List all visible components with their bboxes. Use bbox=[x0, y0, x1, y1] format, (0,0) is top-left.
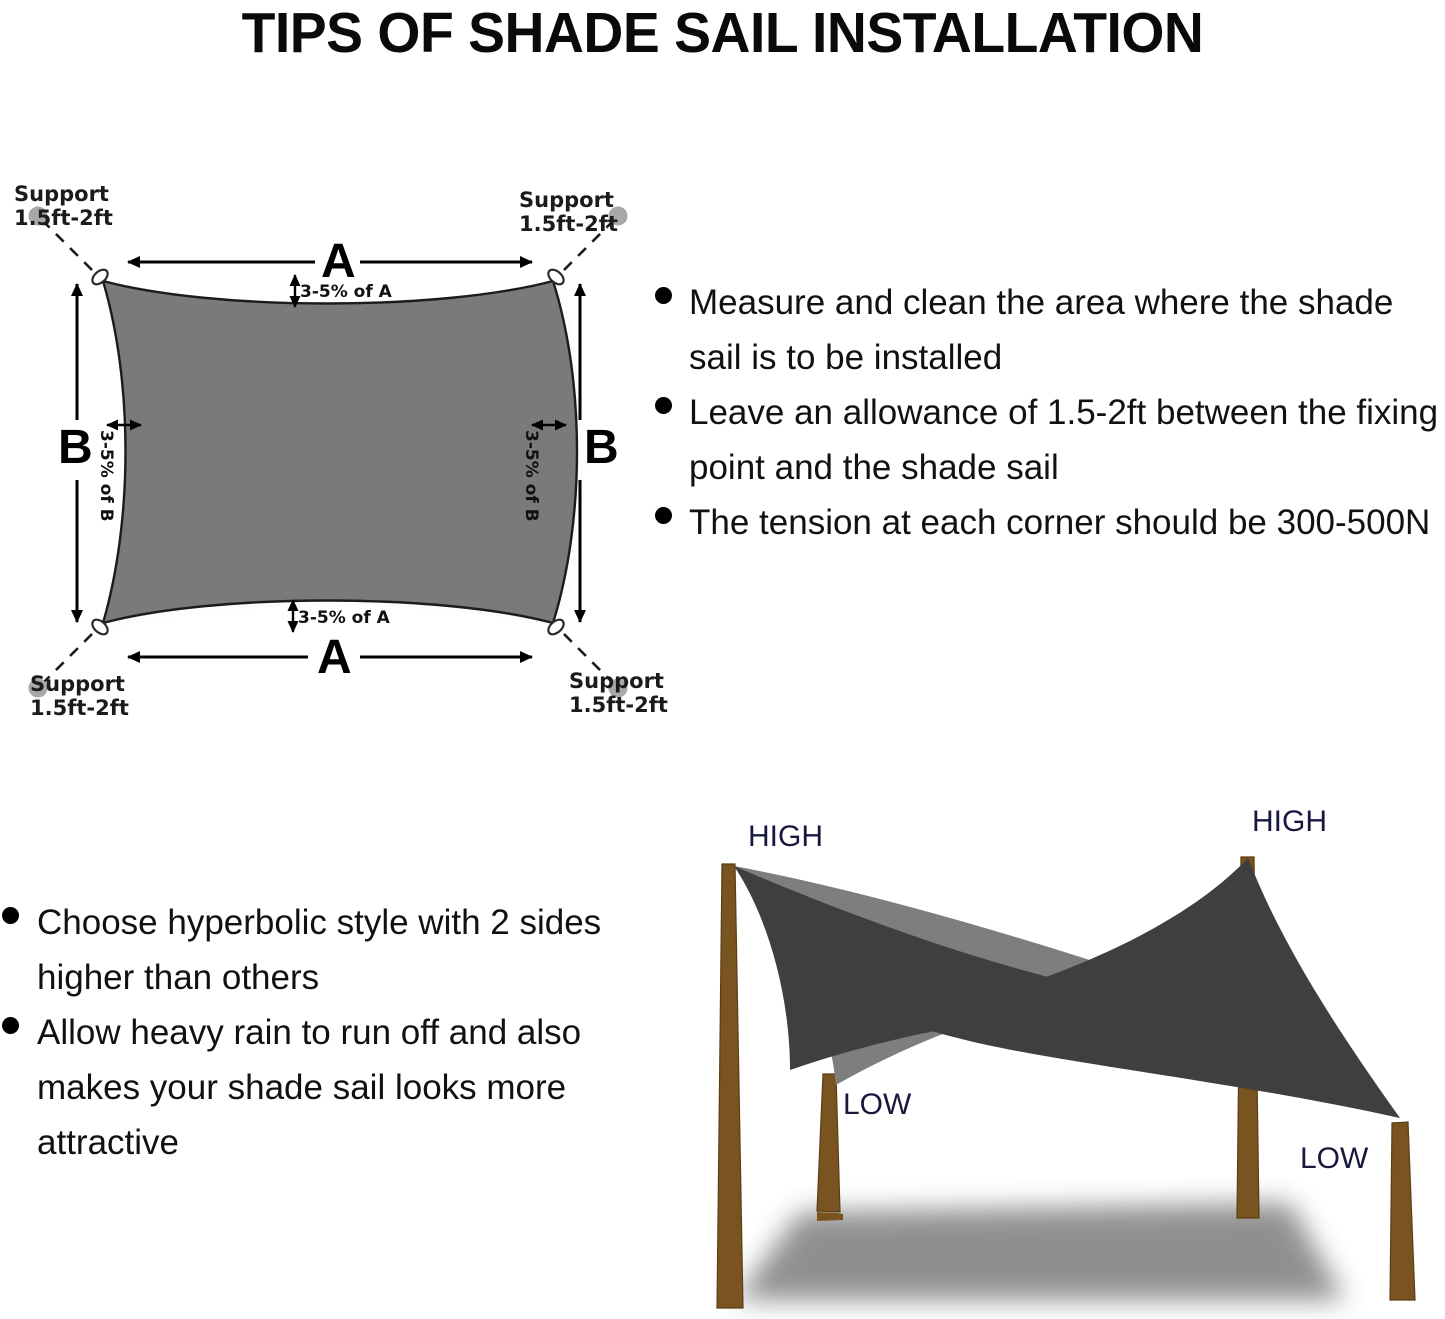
support-label-line1: Support bbox=[14, 182, 113, 206]
list-item: Leave an allowance of 1.5-2ft between th… bbox=[655, 385, 1445, 495]
installation-tips-list: Measure and clean the area where the sha… bbox=[655, 275, 1445, 550]
support-posts bbox=[717, 857, 1415, 1308]
post-label-low-right: LOW bbox=[1300, 1143, 1368, 1175]
support-label-line2: 1.5ft-2ft bbox=[14, 206, 113, 230]
curve-note-bottom: 3-5% of A bbox=[298, 608, 390, 628]
page-title: TIPS OF SHADE SAIL INSTALLATION bbox=[22, 2, 1424, 64]
d-ring-icon bbox=[90, 267, 111, 287]
list-item-text: The tension at each corner should be 300… bbox=[689, 495, 1430, 550]
list-item: The tension at each corner should be 300… bbox=[655, 495, 1445, 550]
post-4 bbox=[1390, 1122, 1415, 1300]
list-item-text: Leave an allowance of 1.5-2ft between th… bbox=[689, 385, 1445, 495]
post-1 bbox=[717, 864, 743, 1308]
hyperbolic-style-tips-list: Choose hyperbolic style with 2 sides hig… bbox=[2, 895, 627, 1170]
list-item-text: Choose hyperbolic style with 2 sides hig… bbox=[37, 895, 627, 1005]
bullet-dot-icon bbox=[655, 397, 672, 414]
support-label-top-left: Support 1.5ft-2ft bbox=[14, 182, 113, 230]
post-3 bbox=[1237, 857, 1259, 1218]
support-label-line2: 1.5ft-2ft bbox=[519, 212, 618, 236]
sail-panel-light bbox=[734, 866, 1145, 1085]
support-label-bottom-left: Support 1.5ft-2ft bbox=[30, 672, 129, 720]
d-ring-group bbox=[90, 267, 567, 637]
list-item: Allow heavy rain to run off and also mak… bbox=[2, 1005, 627, 1170]
support-label-line1: Support bbox=[569, 669, 668, 693]
curve-note-right: 3-5% of B bbox=[521, 430, 541, 522]
dimension-label-a-top: A bbox=[321, 238, 356, 286]
d-ring-icon bbox=[546, 617, 567, 637]
sail-panel-dark bbox=[900, 858, 1400, 1118]
bullet-dot-icon bbox=[655, 507, 672, 524]
list-item-text: Measure and clean the area where the sha… bbox=[689, 275, 1445, 385]
bullet-dot-icon bbox=[655, 287, 672, 304]
d-ring-icon bbox=[90, 617, 111, 637]
bullet-dot-icon bbox=[2, 1017, 19, 1034]
dimension-label-a-bottom: A bbox=[317, 634, 352, 682]
shade-sail-shape bbox=[103, 281, 577, 623]
support-label-line2: 1.5ft-2ft bbox=[569, 693, 668, 717]
post-2 bbox=[817, 1212, 843, 1221]
ground-shadow bbox=[735, 1203, 1345, 1300]
dimension-label-b-left: B bbox=[58, 424, 93, 472]
hyperbolic-illustration-group bbox=[717, 857, 1415, 1308]
post-2 bbox=[817, 1074, 840, 1212]
curve-note-top: 3-5% of A bbox=[300, 282, 392, 302]
post-label-high-right: HIGH bbox=[1252, 806, 1327, 838]
list-item-text: Allow heavy rain to run off and also mak… bbox=[37, 1005, 627, 1170]
post-label-high-left: HIGH bbox=[748, 821, 823, 853]
sail-body-group bbox=[103, 281, 585, 629]
curve-depth-measures bbox=[107, 275, 566, 632]
dimension-label-b-right: B bbox=[584, 424, 619, 472]
support-label-bottom-right: Support 1.5ft-2ft bbox=[569, 669, 668, 717]
post-label-low-left: LOW bbox=[843, 1089, 911, 1121]
d-ring-icon bbox=[546, 267, 567, 287]
support-label-line2: 1.5ft-2ft bbox=[30, 696, 129, 720]
support-label-top-right: Support 1.5ft-2ft bbox=[519, 188, 618, 236]
support-label-line1: Support bbox=[519, 188, 618, 212]
list-item: Measure and clean the area where the sha… bbox=[655, 275, 1445, 385]
curve-note-left: 3-5% of B bbox=[96, 430, 116, 522]
bullet-dot-icon bbox=[2, 907, 19, 924]
list-item: Choose hyperbolic style with 2 sides hig… bbox=[2, 895, 627, 1005]
dimension-arrows bbox=[77, 262, 580, 657]
support-label-line1: Support bbox=[30, 672, 129, 696]
sail-saddle-band bbox=[734, 866, 1160, 1070]
